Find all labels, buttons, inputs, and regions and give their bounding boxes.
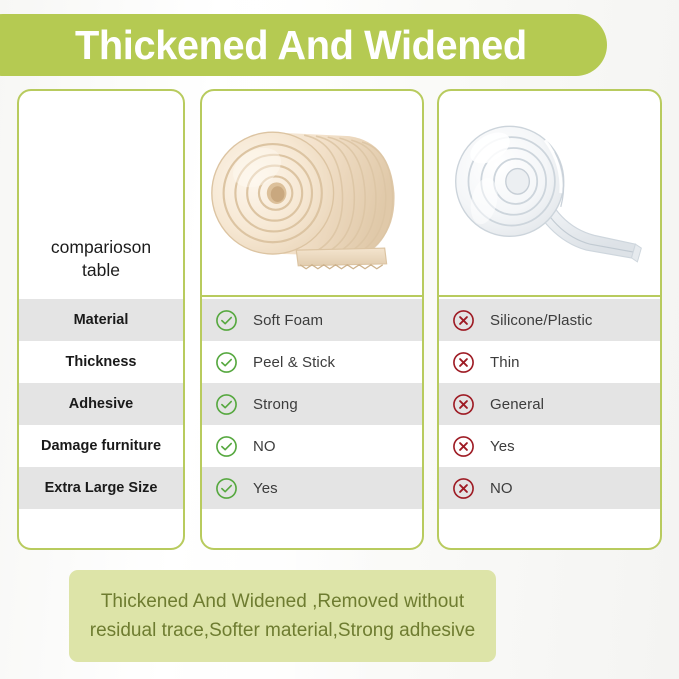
cross-circle-icon [452, 393, 475, 416]
foam-roll-image [202, 91, 422, 293]
header-banner: Thickened And Widened [0, 14, 607, 76]
caption-box: Thickened And Widened ,Removed without r… [69, 570, 496, 662]
comparison-label-card: comparioson table Material Thickness Adh… [17, 89, 185, 550]
check-circle-icon [215, 309, 238, 332]
silicone-value-extra-large-size: NO [490, 480, 513, 497]
check-circle-icon [215, 435, 238, 458]
table-row: Silicone/Plastic [439, 299, 660, 341]
row-label-material: Material [74, 312, 129, 328]
row-label-extra-large-size: Extra Large Size [45, 480, 158, 496]
comparison-table-title-line1: comparioson [51, 236, 151, 260]
table-row: Extra Large Size [19, 467, 183, 509]
comparison-table-header: comparioson table [19, 91, 183, 297]
table-row: Adhesive [19, 383, 183, 425]
silicone-value-damage-furniture: Yes [490, 438, 515, 455]
table-row: NO [439, 467, 660, 509]
row-label-adhesive: Adhesive [69, 396, 133, 412]
caption-line-2: residual trace,Softer material,Strong ad… [90, 616, 475, 645]
foam-value-extra-large-size: Yes [253, 480, 278, 497]
foam-value-rows: Soft Foam Peel & Stick Strong NO [202, 299, 422, 509]
foam-product-card: Soft Foam Peel & Stick Strong NO [200, 89, 424, 550]
comparison-table-title-line2: table [51, 259, 151, 283]
table-row: General [439, 383, 660, 425]
check-circle-icon [215, 477, 238, 500]
table-row: Thin [439, 341, 660, 383]
check-circle-icon [215, 393, 238, 416]
check-circle-icon [215, 351, 238, 374]
table-row: Thickness [19, 341, 183, 383]
foam-value-damage-furniture: NO [253, 438, 276, 455]
table-row: Soft Foam [202, 299, 422, 341]
cross-circle-icon [452, 435, 475, 458]
table-row: Material [19, 299, 183, 341]
page-title: Thickened And Widened [75, 22, 527, 69]
table-row: Yes [202, 467, 422, 509]
table-row: Yes [439, 425, 660, 467]
row-label-thickness: Thickness [66, 354, 137, 370]
cross-circle-icon [452, 351, 475, 374]
silicone-value-material: Silicone/Plastic [490, 312, 592, 329]
label-rows: Material Thickness Adhesive Damage furni… [19, 299, 183, 509]
foam-value-material: Soft Foam [253, 312, 323, 329]
silicone-value-adhesive: General [490, 396, 544, 413]
silicone-product-image-area [439, 91, 660, 297]
caption-line-1: Thickened And Widened ,Removed without [101, 587, 464, 616]
cross-circle-icon [452, 309, 475, 332]
comparison-table-title: comparioson table [51, 236, 151, 283]
silicone-value-rows: Silicone/Plastic Thin General Yes [439, 299, 660, 509]
table-row: Peel & Stick [202, 341, 422, 383]
silicone-value-thickness: Thin [490, 354, 520, 371]
table-row: Strong [202, 383, 422, 425]
silicone-strip-image [439, 91, 660, 293]
row-label-damage-furniture: Damage furniture [41, 438, 161, 454]
foam-value-adhesive: Strong [253, 396, 298, 413]
table-row: NO [202, 425, 422, 467]
cross-circle-icon [452, 477, 475, 500]
foam-value-thickness: Peel & Stick [253, 354, 335, 371]
silicone-product-card: Silicone/Plastic Thin General Yes [437, 89, 662, 550]
table-row: Damage furniture [19, 425, 183, 467]
foam-product-image-area [202, 91, 422, 297]
